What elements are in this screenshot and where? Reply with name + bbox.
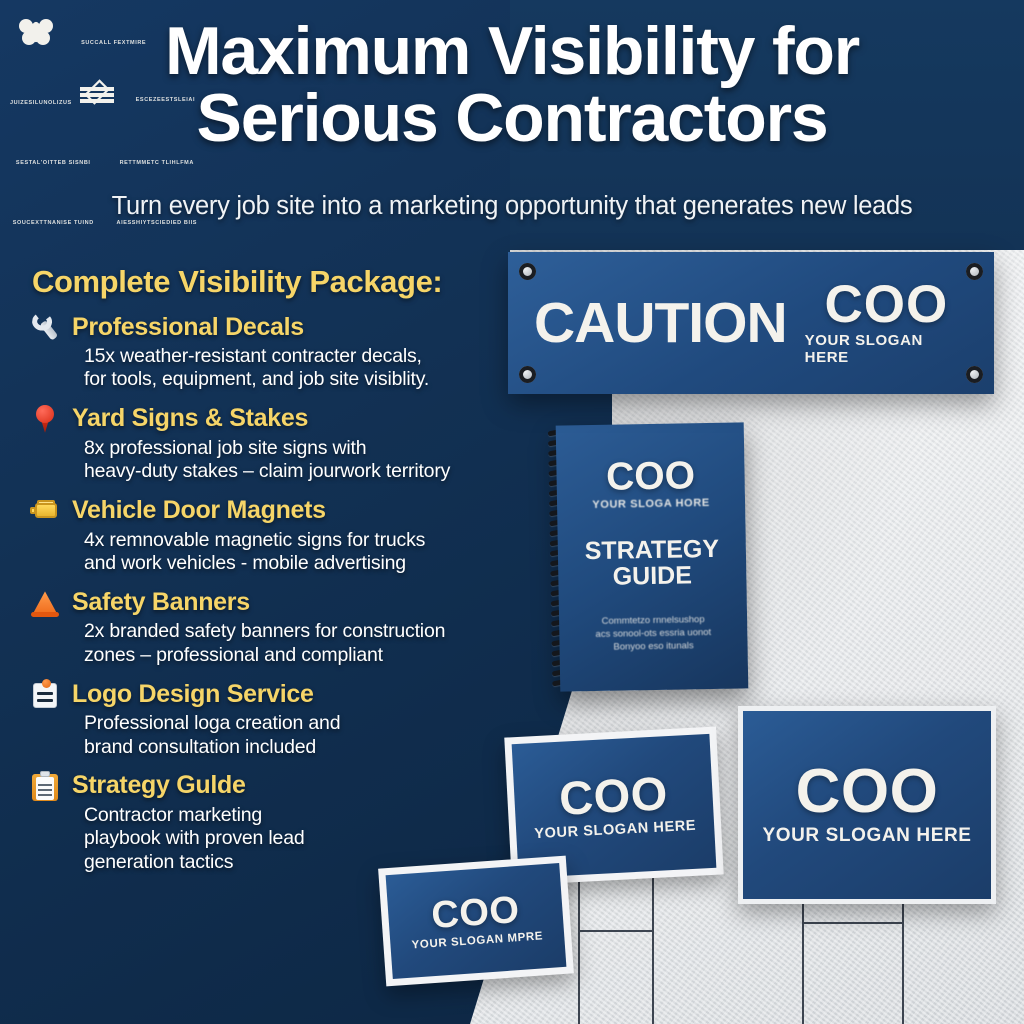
headline-line-1: Maximum Visibility for [165, 13, 859, 89]
feature-title: Strategy Gulde [72, 771, 246, 800]
wire-stake [790, 896, 920, 1024]
feature-title: Professional Decals [72, 313, 304, 342]
feature-description: Contractor marketing playbook with prove… [84, 804, 548, 874]
feature-title: Safety Banners [72, 588, 250, 617]
yard-sign-brand-text: COO [558, 771, 669, 821]
feature-description: 15x weather-resistant contracter decals,… [84, 345, 548, 392]
feature-title: Logo Design Service [72, 680, 314, 709]
feature-item-yard-signs: Yard Signs & Stakes 8x professional job … [28, 402, 548, 484]
yard-sign-slogan-text: YOUR SLOGAN HERE [534, 818, 696, 842]
book-subtitle-line2: acs sonool-ots essria uonot [595, 627, 711, 640]
wrench-icon [21, 303, 69, 351]
yard-sign-large-mockup: COO YOUR SLOGAN HERE [738, 706, 996, 904]
grommet-icon [966, 263, 983, 280]
feature-item-safety-banners: Safety Banners 2x branded safety banners… [28, 585, 548, 667]
decal-slogan-text: SOUCEXTTNANISE TUIND [13, 220, 94, 226]
feature-desc-line: 2x branded safety banners for constructi… [84, 620, 548, 643]
safety-banner-mockup: CAUTION COO YOUR SLOGAN HERE [508, 252, 994, 394]
wire-stake [572, 876, 656, 1024]
feature-desc-line: brand consultation included [84, 736, 548, 759]
decal-slogan-text: SESTAL'OITTEB SISNBI [16, 160, 91, 166]
warning-triangle-icon [28, 585, 62, 619]
clipboard-icon [28, 769, 62, 803]
feature-desc-line: 8x professional job site signs with [84, 437, 548, 460]
strategy-guide-mockup: COO YOUR SLOGA HORE STRATEGY GUIDE Commt… [556, 422, 749, 691]
page-subtitle: Turn every job site into a marketing opp… [0, 192, 1024, 221]
decal-slogan-text: AIESSHIYTSCIEDIED BIIS [117, 220, 197, 226]
feature-item-professional-decals: Professional Decals 15x weather-resistan… [28, 310, 548, 392]
grommet-icon [519, 263, 536, 280]
decal-slogan-text: RETTMMETC TLIHLFMA [120, 160, 194, 166]
yard-sign-slogan-text: YOUR SLOGAN HERE [762, 825, 971, 847]
feature-description: Professional loga creation and brand con… [84, 712, 548, 759]
book-title-line2: GUIDE [612, 561, 692, 590]
book-brand-text: COO [606, 457, 695, 496]
feature-desc-line: 4x remnovable magnetic signs for trucks [84, 529, 548, 552]
book-subtitle-line3: Bonyoo eso itunals [613, 640, 693, 652]
package-title: Complete Visibility Package: [32, 264, 442, 300]
banner-slogan-text: YOUR SLOGAN HERE [805, 332, 968, 366]
book-slogan-text: YOUR SLOGA HORE [592, 497, 710, 511]
feature-desc-line: 15x weather-resistant contracter decals, [84, 345, 548, 368]
feature-desc-line: Professional loga creation and [84, 712, 548, 735]
feature-title: Yard Signs & Stakes [72, 404, 308, 433]
book-subtitle-line1: Commtetzo rnnelsushop [602, 614, 705, 627]
feature-description: 8x professional job site signs with heav… [84, 437, 548, 484]
feature-item-vehicle-magnets: Vehicle Door Magnets 4x remnovable magne… [28, 494, 548, 576]
feature-desc-line: for tools, equipment, and job site visib… [84, 368, 548, 391]
feature-list: Professional Decals 15x weather-resistan… [28, 310, 548, 884]
banner-brand-text: COO [824, 280, 948, 330]
yard-sign-brand-text: COO [430, 892, 520, 934]
feature-desc-line: playbook with proven lead [84, 827, 548, 850]
feature-description: 2x branded safety banners for constructi… [84, 620, 548, 667]
feature-description: 4x remnovable magnetic signs for trucks … [84, 529, 548, 576]
feature-desc-line: and work vehicles - mobile advertising [84, 552, 548, 575]
headline-line-2: Serious Contractors [36, 85, 988, 152]
note-icon [28, 677, 62, 711]
yard-sign-brand-text: COO [796, 763, 939, 822]
feature-desc-line: heavy-duty stakes – claim jourwork terri… [84, 460, 548, 483]
poster-canvas: CAUTION COO YOUR SLOGAN HERE COO YOUR SL… [0, 0, 1024, 1024]
grommet-icon [966, 366, 983, 383]
feature-title: Vehicle Door Magnets [72, 496, 326, 525]
feature-desc-line: Contractor marketing [84, 804, 548, 827]
map-pin-icon [28, 402, 62, 436]
feature-desc-line: zones – professional and compliant [84, 644, 548, 667]
banner-caution-text: CAUTION [534, 290, 787, 356]
magnet-icon [28, 494, 62, 528]
page-title: Maximum Visibility for Serious Contracto… [0, 18, 1024, 153]
feature-item-strategy-guide: Strategy Gulde Contractor marketing play… [28, 769, 548, 874]
feature-desc-line: generation tactics [84, 851, 548, 874]
feature-item-logo-design: Logo Design Service Professional loga cr… [28, 677, 548, 759]
